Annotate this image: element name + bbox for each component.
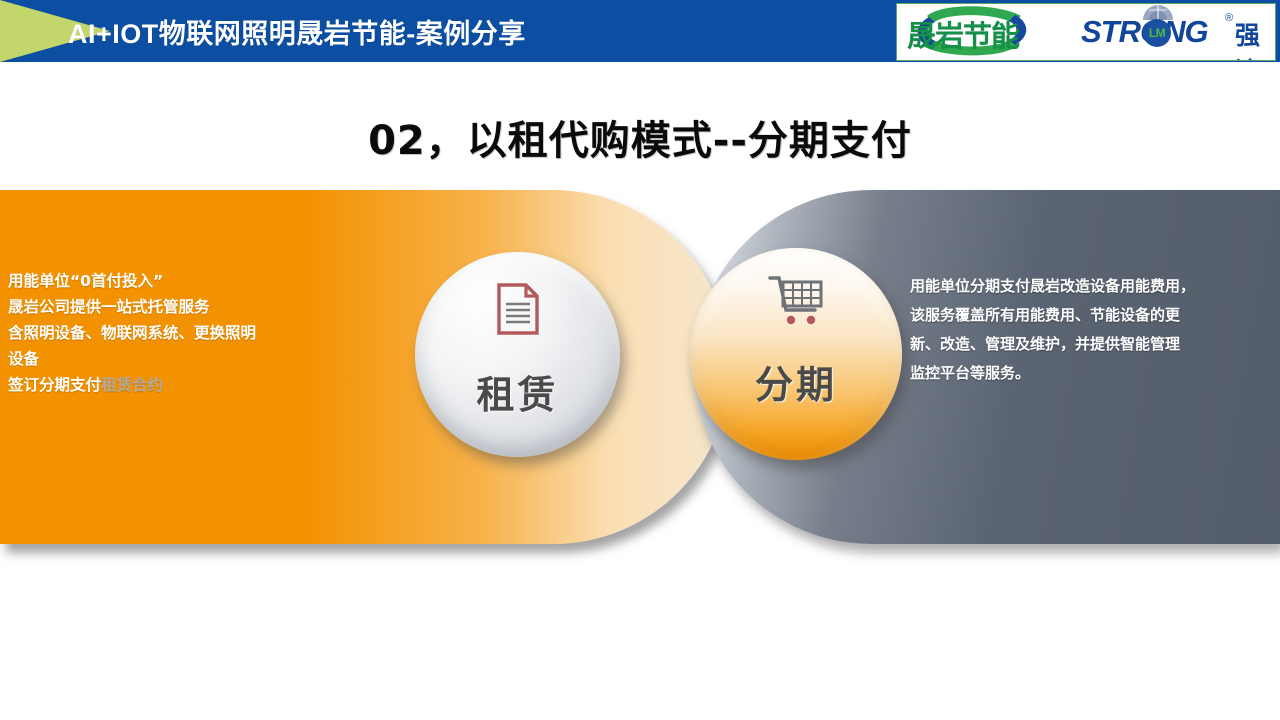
rental-line-4: 设备 [8,346,328,372]
logo-brand-cn2: 强流明照明 [1235,16,1275,61]
rental-circle[interactable]: 租赁 [415,252,620,457]
installment-line-2: 该服务覆盖所有用能费用、节能设备的更 [910,301,1280,330]
installment-circle[interactable]: 分期 [690,248,902,460]
installment-line-3: 新、改造、管理及维护，并提供智能管理 [910,330,1280,359]
header-title: AI+IOT物联网照明晟岩节能-案例分享 [68,0,526,62]
installment-line-1: 用能单位分期支付晟岩改造设备用能费用， [910,272,1280,301]
logo-lm-text: LM [1149,26,1165,40]
rental-line-3: 含照明设备、物联网系统、更换照明 [8,320,328,346]
rental-line-5-highlight: 租赁合约 [101,376,163,394]
logo-cn-group: 晟岩节能 [897,4,1079,60]
rental-circle-label: 租赁 [476,364,558,419]
slide-root: AI+IOT物联网照明晟岩节能-案例分享 晟岩节能 STRON [0,0,1280,720]
rental-line-5-white: 签订分期支付 [8,376,101,394]
document-icon [496,278,540,340]
logo-en-group: STRONG LM ® 强流明照明 [1079,4,1275,60]
rental-description: 用能单位“0首付投入” 晟岩公司提供一站式托管服务 含照明设备、物联网系统、更换… [8,268,328,398]
installment-description: 用能单位分期支付晟岩改造设备用能费用， 该服务覆盖所有用能费用、节能设备的更 新… [910,272,1280,388]
registered-mark: ® [1225,12,1233,24]
rental-line-5: 签订分期支付租赁合约 [8,372,328,398]
rental-line-1: 用能单位“0首付投入” [8,268,328,294]
installment-line-4: 监控平台等服务。 [910,359,1280,388]
rental-line-2: 晟岩公司提供一站式托管服务 [8,294,328,320]
shopping-cart-icon [768,270,824,332]
header-bar: AI+IOT物联网照明晟岩节能-案例分享 晟岩节能 STRON [0,0,1280,62]
content-band: 用能单位“0首付投入” 晟岩公司提供一站式托管服务 含照明设备、物联网系统、更换… [0,190,1280,550]
logo-brand-cn: 晟岩节能 [907,13,1019,55]
company-logo: 晟岩节能 STRONG LM ® 强流明照明 [896,3,1276,61]
installment-circle-label: 分期 [755,354,837,409]
page-title: 02，以租代购模式--分期支付 [0,108,1280,166]
logo-lm-badge: LM [1143,19,1171,47]
